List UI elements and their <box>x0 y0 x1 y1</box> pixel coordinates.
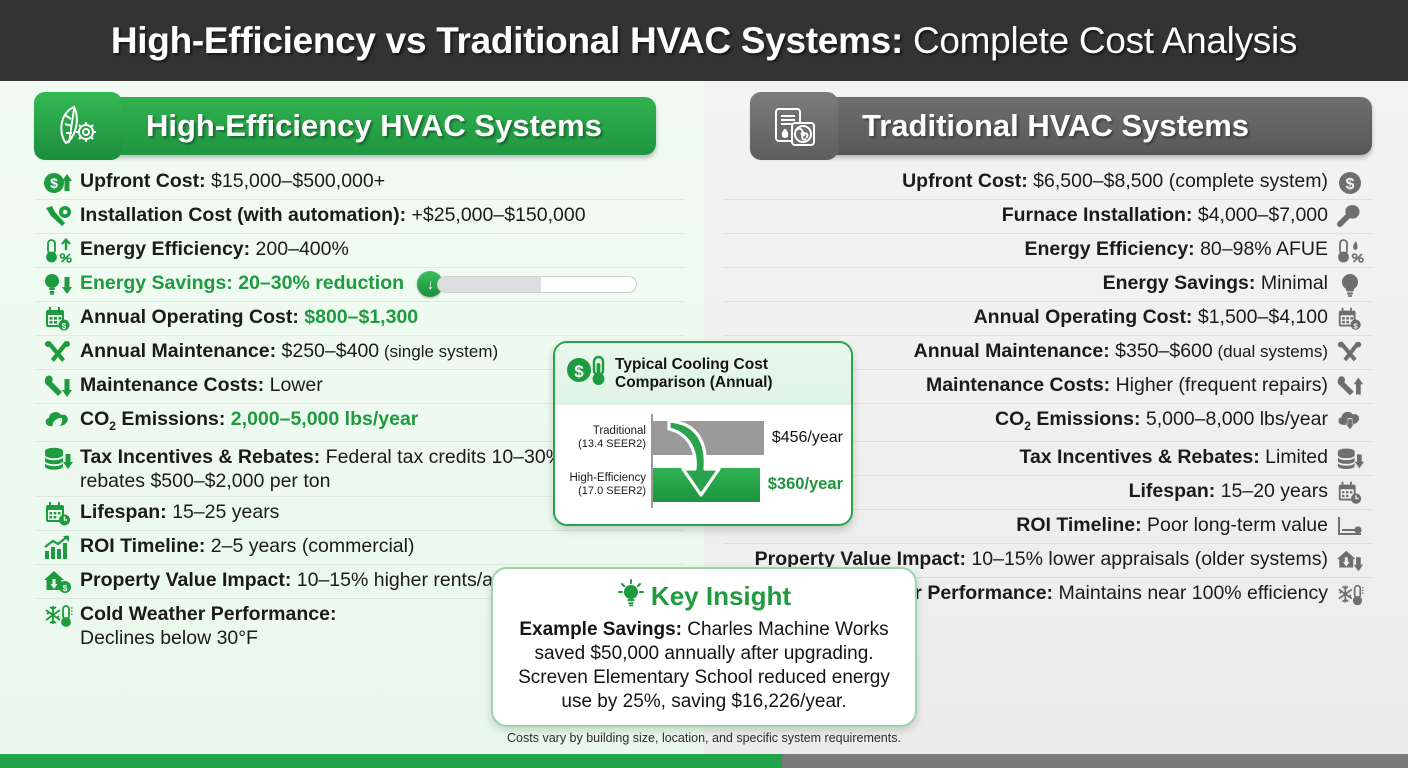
svg-text:$: $ <box>574 362 584 381</box>
leaf-gear-icon <box>34 92 122 160</box>
row-text: Upfront Cost: $15,000–$500,000+ <box>80 169 684 193</box>
row-value: 15–20 years <box>1215 480 1328 502</box>
row-label: Annual Operating Cost: <box>80 306 299 328</box>
row-value: 2–5 years (commercial) <box>205 535 414 557</box>
coins-down-icon <box>1328 445 1372 472</box>
row-annual-operating-cost: $ Annual Operating Cost: $800–$1,300 <box>36 302 684 336</box>
row-value: $15,000–$500,000+ <box>206 170 385 192</box>
dollar-thermometer-icon: $ <box>565 354 609 395</box>
row-label: Lifespan: <box>1129 480 1216 502</box>
calendar-clock-icon <box>1328 479 1372 506</box>
row-label: Tax Incentives & Rebates: <box>80 446 320 468</box>
energy-savings-meter: ↓ <box>417 271 637 297</box>
row-value: Minimal <box>1255 272 1328 294</box>
wrench-up-icon <box>1328 373 1372 400</box>
high-efficiency-banner: High-Efficiency HVAC Systems <box>36 97 656 155</box>
row-text: Installation Cost (with automation): +$2… <box>80 203 684 227</box>
row-text: Upfront Cost: $6,500–$8,500 (complete sy… <box>724 169 1328 193</box>
chart-up-icon <box>36 534 80 561</box>
snowflake-thermometer-icon <box>36 602 80 629</box>
svg-text:$: $ <box>62 322 67 331</box>
chart-title-line2: Comparison (Annual) <box>615 374 773 391</box>
row-value: $6,500–$8,500 (complete system) <box>1028 170 1328 192</box>
row-label: Cold Weather Performance: <box>80 603 336 625</box>
row-installation-cost: Installation Cost (with automation): +$2… <box>36 200 684 234</box>
traditional-banner: Traditional HVAC Systems <box>752 97 1372 155</box>
calendar-dollar-icon: $ <box>36 305 80 332</box>
row-value: Maintains near 100% efficiency <box>1053 582 1328 604</box>
row-label: CO2 Emissions: <box>995 408 1140 430</box>
svg-text:$: $ <box>50 175 58 191</box>
row-label: Furnace Installation: <box>1002 204 1193 226</box>
row-label: Energy Savings: 20–30% reduction <box>80 272 404 294</box>
row-value: 200–400% <box>250 238 349 260</box>
row-label: Energy Savings: <box>1103 272 1256 294</box>
chart-title-line1: Typical Cooling Cost <box>615 356 768 373</box>
row-value: $250–$400 <box>276 340 379 362</box>
bulb-icon <box>1328 271 1372 298</box>
lightbulb-icon <box>617 579 645 614</box>
key-insight-body: Example Savings: Charles Machine Works s… <box>509 618 899 714</box>
cloud-up-icon <box>1328 407 1372 434</box>
chart-category-detail: (17.0 SEER2) <box>578 485 646 497</box>
chart-category-name: Traditional <box>593 425 646 437</box>
calendar-clock-icon <box>36 500 80 527</box>
row-text: Energy Efficiency: 80–98% AFUE <box>724 237 1328 261</box>
row-value: Higher (frequent repairs) <box>1110 374 1328 396</box>
row-label: CO2 Emissions: <box>80 408 225 430</box>
chart-category-label: Traditional (13.4 SEER2) <box>563 425 651 451</box>
thermometer-percent-icon <box>36 237 80 264</box>
chart-bar-row-high-efficiency: High-Efficiency (17.0 SEER2) $360/year <box>563 461 843 508</box>
dollar-up-icon: $ <box>36 169 80 196</box>
tools-icon <box>1328 339 1372 366</box>
infographic-page: High-Efficiency vs Traditional HVAC Syst… <box>0 0 1408 768</box>
row-label: Lifespan: <box>80 501 167 523</box>
svg-text:$: $ <box>1346 176 1355 193</box>
page-title-light: Complete Cost Analysis <box>903 20 1297 61</box>
row-value: Lower <box>264 374 323 396</box>
row-label: Energy Efficiency: <box>80 238 250 260</box>
row-value: +$25,000–$150,000 <box>406 204 585 226</box>
row-value: Poor long-term value <box>1142 514 1328 536</box>
chart-card-header: $ Typical Cooling Cost Comparison (Annua… <box>555 343 851 405</box>
key-insight-header: Key Insight <box>509 579 899 614</box>
key-insight-body-label: Example Savings: <box>519 619 682 640</box>
row-roi-timeline: ROI Timeline: 2–5 years (commercial) <box>36 531 684 565</box>
row-label: Upfront Cost: <box>80 170 206 192</box>
row-furnace-installation: Furnace Installation: $4,000–$7,000 <box>724 200 1372 234</box>
row-value: 5,000–8,000 lbs/year <box>1140 408 1328 430</box>
row-energy-efficiency: Energy Efficiency: 80–98% AFUE <box>724 234 1372 268</box>
chart-plot-area: Traditional (13.4 SEER2) $456/year High-… <box>555 405 851 516</box>
chart-bar-traditional <box>653 421 764 455</box>
bulb-down-icon <box>36 271 80 298</box>
wrench-down-icon <box>36 373 80 400</box>
row-value: 10–15% lower appraisals (older systems) <box>966 548 1328 570</box>
row-value: $1,500–$4,100 <box>1192 306 1328 328</box>
row-value: Limited <box>1260 446 1328 468</box>
tools-icon <box>36 339 80 366</box>
thermometer-drop-percent-icon <box>1328 237 1372 264</box>
chart-category-label: High-Efficiency (17.0 SEER2) <box>563 472 651 498</box>
wrench-gear-icon <box>36 203 80 230</box>
chart-category-name: High-Efficiency <box>570 472 647 484</box>
row-text: Energy Savings: Minimal <box>724 271 1328 295</box>
row-value: Declines below 30°F <box>80 627 258 649</box>
row-text: ROI Timeline: 2–5 years (commercial) <box>80 534 684 558</box>
row-note: (single system) <box>379 342 498 361</box>
row-label: Energy Efficiency: <box>1025 238 1195 260</box>
svg-text:$: $ <box>63 583 68 593</box>
row-label: Maintenance Costs: <box>926 374 1110 396</box>
row-label: Installation Cost (with automation): <box>80 204 406 226</box>
row-energy-savings: Energy Savings: 20–30% reduction ↓ <box>36 268 684 302</box>
snowflake-thermometer-icon <box>1328 581 1372 608</box>
footer-bar-left <box>0 754 782 768</box>
row-upfront-cost: $ Upfront Cost: $15,000–$500,000+ <box>36 166 684 200</box>
chart-category-detail: (13.4 SEER2) <box>578 438 646 450</box>
chart-title: Typical Cooling Cost Comparison (Annual) <box>615 356 773 392</box>
meter-track <box>437 276 637 293</box>
row-text: Annual Operating Cost: $800–$1,300 <box>80 305 684 329</box>
row-label: ROI Timeline: <box>80 535 205 557</box>
page-title-strong: High-Efficiency vs Traditional HVAC Syst… <box>111 20 903 61</box>
row-label: ROI Timeline: <box>1016 514 1141 536</box>
page-title: High-Efficiency vs Traditional HVAC Syst… <box>111 20 1297 62</box>
row-annual-operating-cost: $ Annual Operating Cost: $1,500–$4,100 <box>724 302 1372 336</box>
row-label: Upfront Cost: <box>902 170 1028 192</box>
key-insight-card: Key Insight Example Savings: Charles Mac… <box>491 567 917 727</box>
dollar-circle-icon: $ <box>1328 169 1372 196</box>
disclaimer-text: Costs vary by building size, location, a… <box>491 731 917 745</box>
traditional-banner-title: Traditional HVAC Systems <box>862 108 1249 144</box>
row-label: Tax Incentives & Rebates: <box>1019 446 1259 468</box>
page-title-bar: High-Efficiency vs Traditional HVAC Syst… <box>0 0 1408 81</box>
row-upfront-cost: $ Upfront Cost: $6,500–$8,500 (complete … <box>724 166 1372 200</box>
calendar-dollar-icon: $ <box>1328 305 1372 332</box>
row-text: Energy Savings: 20–30% reduction ↓ <box>80 271 684 297</box>
chart-value-high-efficiency: $360/year <box>768 475 843 494</box>
chart-value-traditional: $456/year <box>772 429 843 447</box>
chart-bar-row-traditional: Traditional (13.4 SEER2) $456/year <box>563 414 843 461</box>
coins-down-icon <box>36 445 80 472</box>
row-text: Energy Efficiency: 200–400% <box>80 237 684 261</box>
high-efficiency-banner-title: High-Efficiency HVAC Systems <box>146 108 602 144</box>
row-energy-efficiency: Energy Efficiency: 200–400% <box>36 234 684 268</box>
row-text: Furnace Installation: $4,000–$7,000 <box>724 203 1328 227</box>
house-down-icon <box>1328 547 1372 574</box>
row-value: 2,000–5,000 lbs/year <box>225 408 418 430</box>
cooling-cost-chart-card: $ Typical Cooling Cost Comparison (Annua… <box>553 341 853 526</box>
row-value: 15–25 years <box>167 501 280 523</box>
row-label: Property Value Impact: <box>80 569 291 591</box>
wrench-icon <box>1328 203 1372 230</box>
row-label: Annual Maintenance: <box>914 340 1110 362</box>
footer-bar-right <box>782 754 1408 768</box>
row-label: Annual Operating Cost: <box>974 306 1193 328</box>
row-value: $800–$1,300 <box>299 306 418 328</box>
key-insight-title: Key Insight <box>651 581 791 612</box>
row-value: 80–98% AFUE <box>1195 238 1328 260</box>
house-up-dollar-icon: $ <box>36 568 80 595</box>
row-label: Annual Maintenance: <box>80 340 276 362</box>
cloud-leaf-icon <box>36 407 80 434</box>
furnace-fan-icon <box>750 92 838 160</box>
row-note: (dual systems) <box>1213 342 1328 361</box>
row-label: Maintenance Costs: <box>80 374 264 396</box>
line-dot-icon <box>1328 513 1372 540</box>
chart-bar-high-efficiency <box>653 468 760 502</box>
row-value: $350–$600 <box>1110 340 1213 362</box>
row-energy-savings: Energy Savings: Minimal <box>724 268 1372 302</box>
row-value: $4,000–$7,000 <box>1192 204 1328 226</box>
row-text: Annual Operating Cost: $1,500–$4,100 <box>724 305 1328 329</box>
